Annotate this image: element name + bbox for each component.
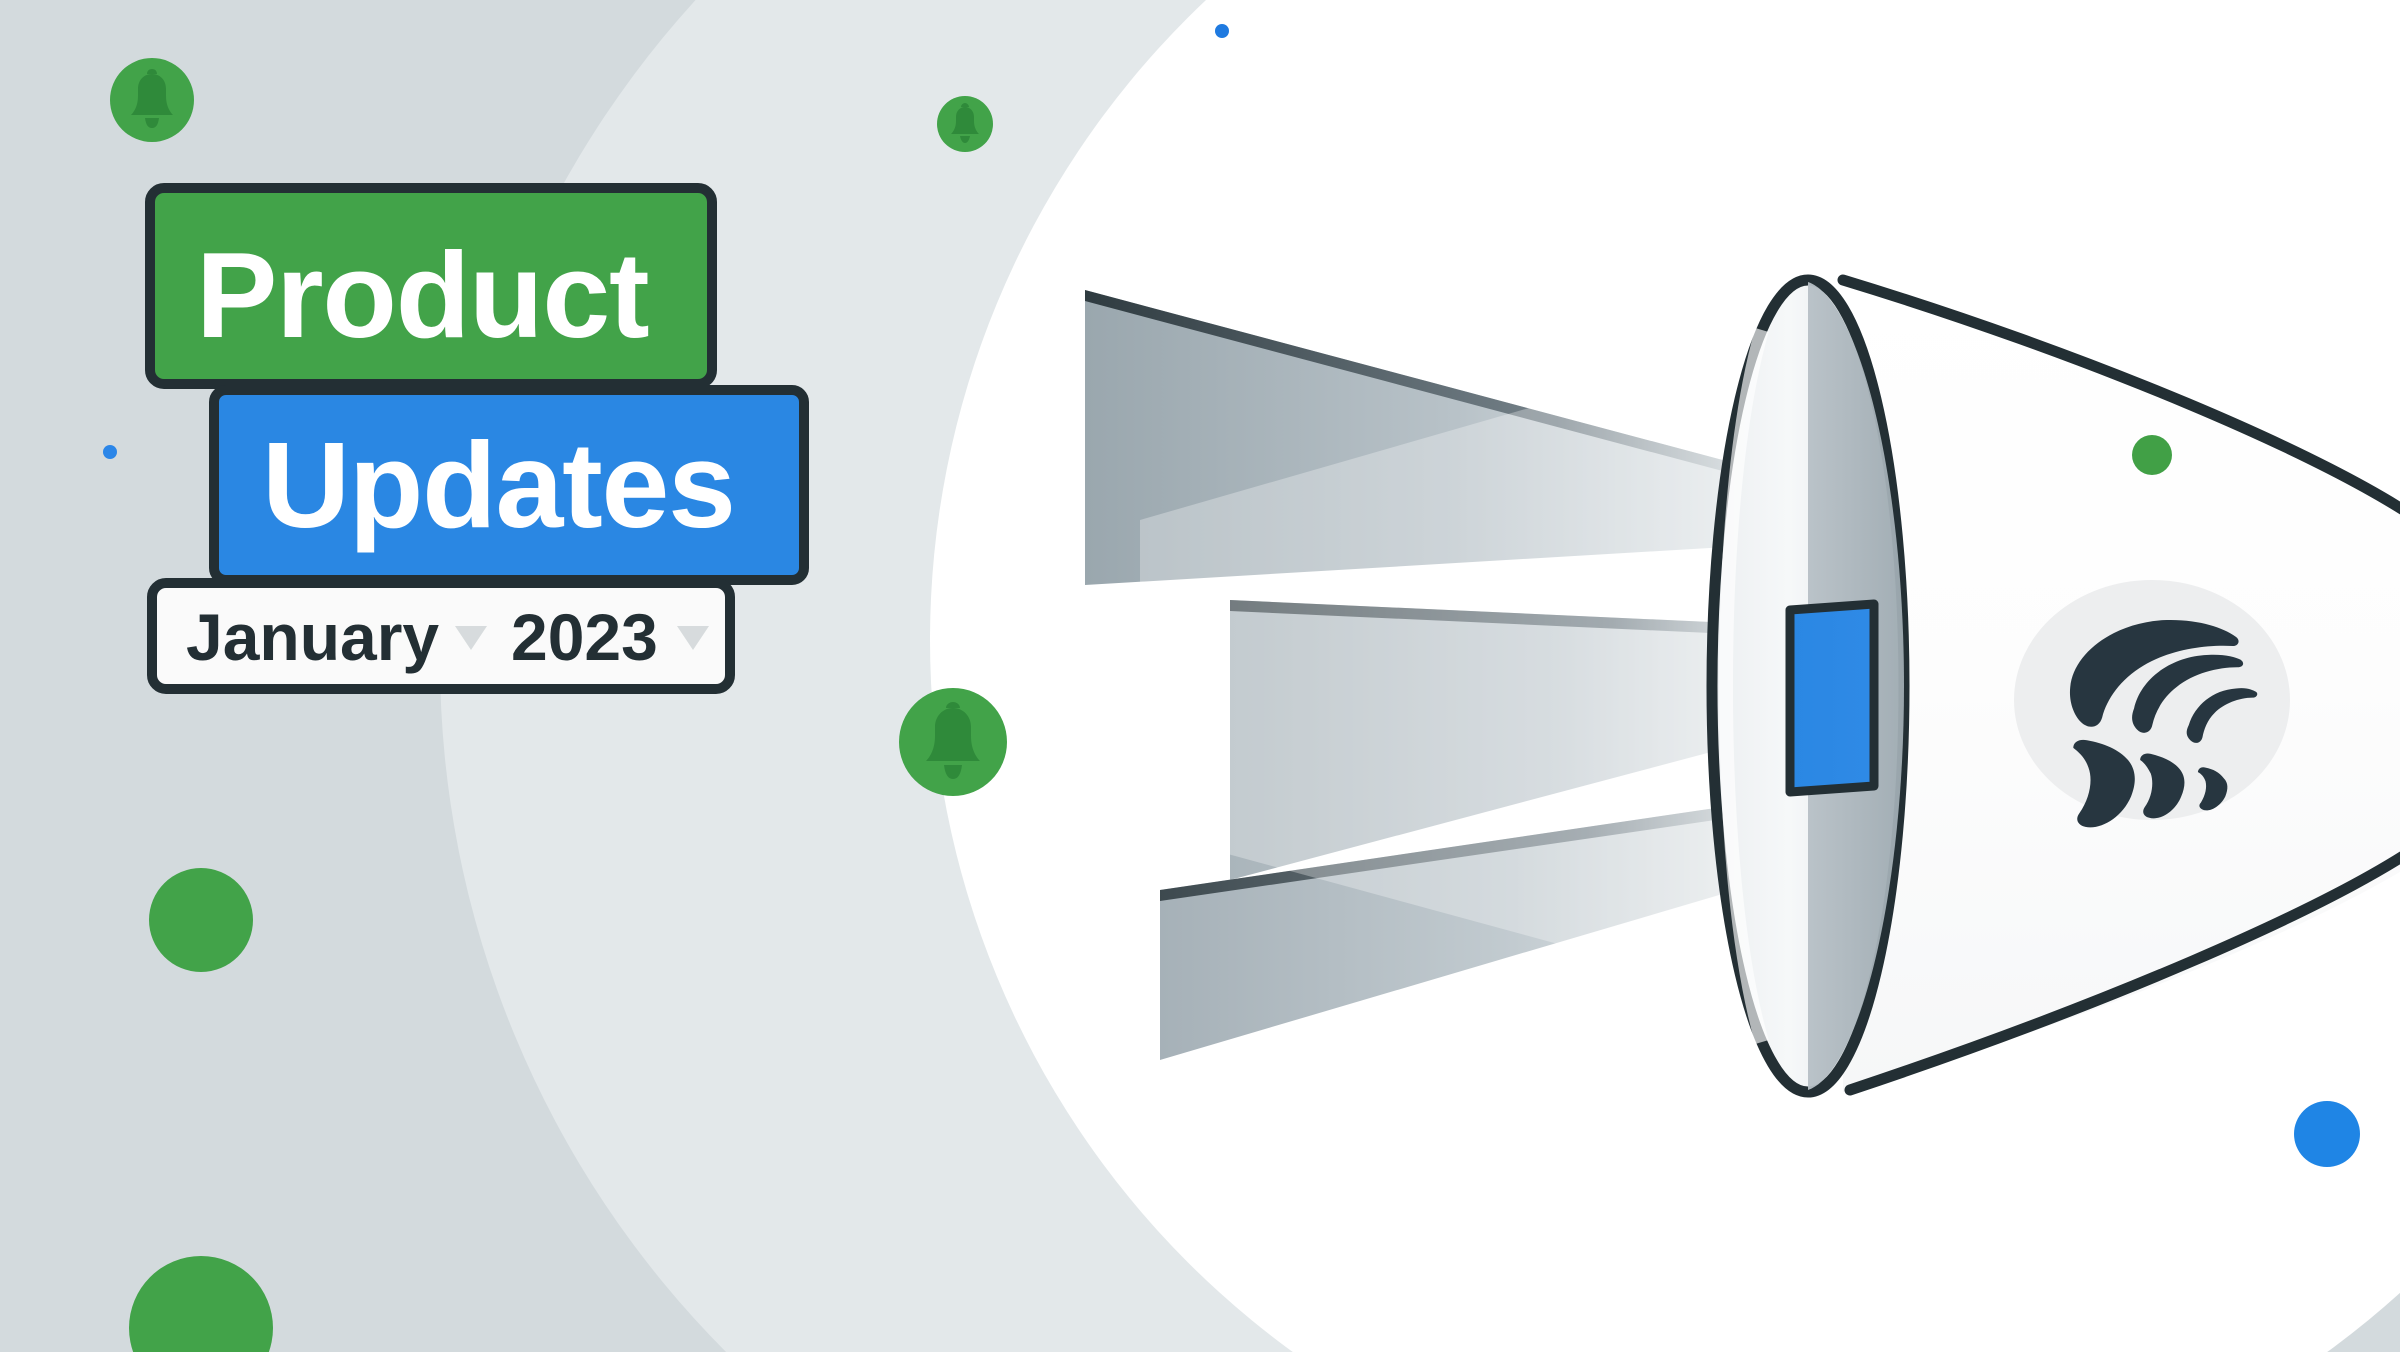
dot-blue-small-top	[1215, 24, 1229, 38]
product-title-label: Product	[196, 234, 648, 356]
month-value[interactable]: January	[186, 604, 439, 670]
bell-badge-top-middle	[937, 96, 993, 152]
bell-badge-bottom	[899, 688, 1007, 796]
circle-green-bottom-left	[149, 868, 253, 972]
dot-green-megaphone	[2132, 435, 2172, 475]
bell-badge-top-left	[110, 58, 194, 142]
year-value[interactable]: 2023	[511, 604, 658, 670]
dot-blue-large-right	[2294, 1101, 2360, 1167]
product-updates-banner: Product Updates January 2023	[0, 0, 2400, 1352]
banner-illustration-layer	[0, 0, 2400, 1352]
dot-blue-small-left	[103, 445, 117, 459]
updates-title-label: Updates	[262, 424, 735, 546]
megaphone-blue-band	[1790, 604, 1874, 792]
